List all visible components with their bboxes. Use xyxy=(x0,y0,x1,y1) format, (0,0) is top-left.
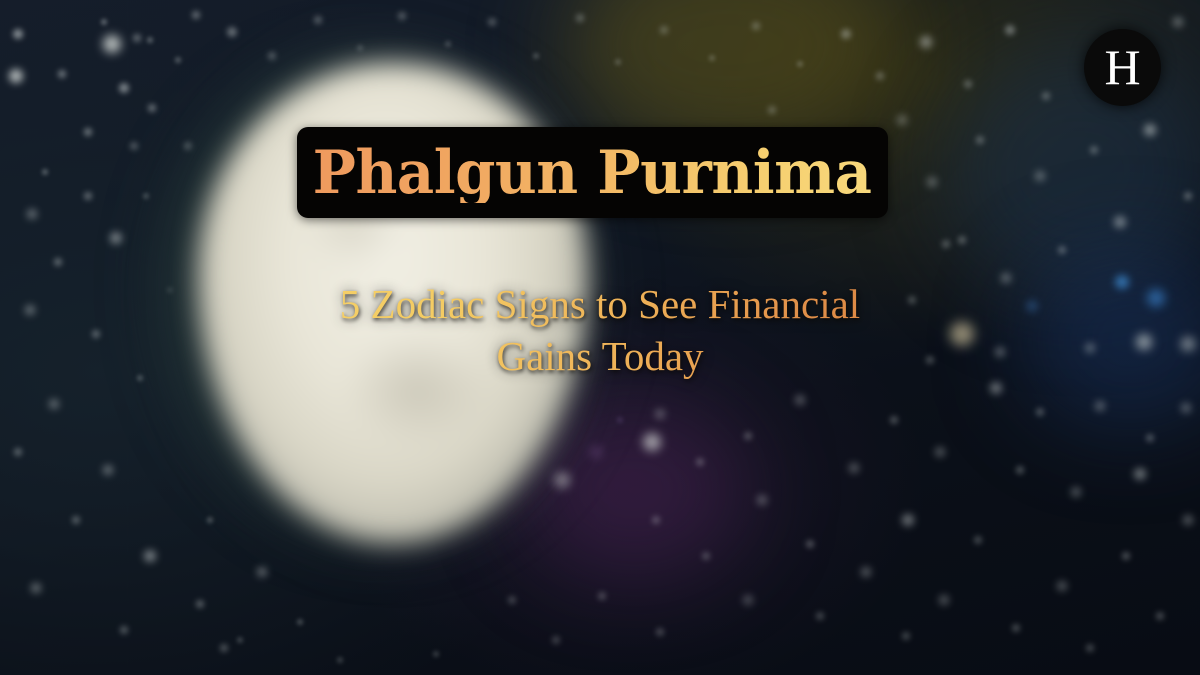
logo-letter-h: H xyxy=(1104,42,1140,92)
subtitle-line-2: Gains Today xyxy=(250,330,950,382)
publication-logo[interactable]: H xyxy=(1084,29,1161,106)
subtitle-line-1: 5 Zodiac Signs to See Financial xyxy=(250,278,950,330)
page-title: Phalgun Purnima xyxy=(313,143,872,203)
subtitle: 5 Zodiac Signs to See Financial Gains To… xyxy=(250,278,950,383)
poster-canvas: H Phalgun Purnima 5 Zodiac Signs to See … xyxy=(0,0,1200,675)
title-banner: Phalgun Purnima xyxy=(297,127,888,218)
